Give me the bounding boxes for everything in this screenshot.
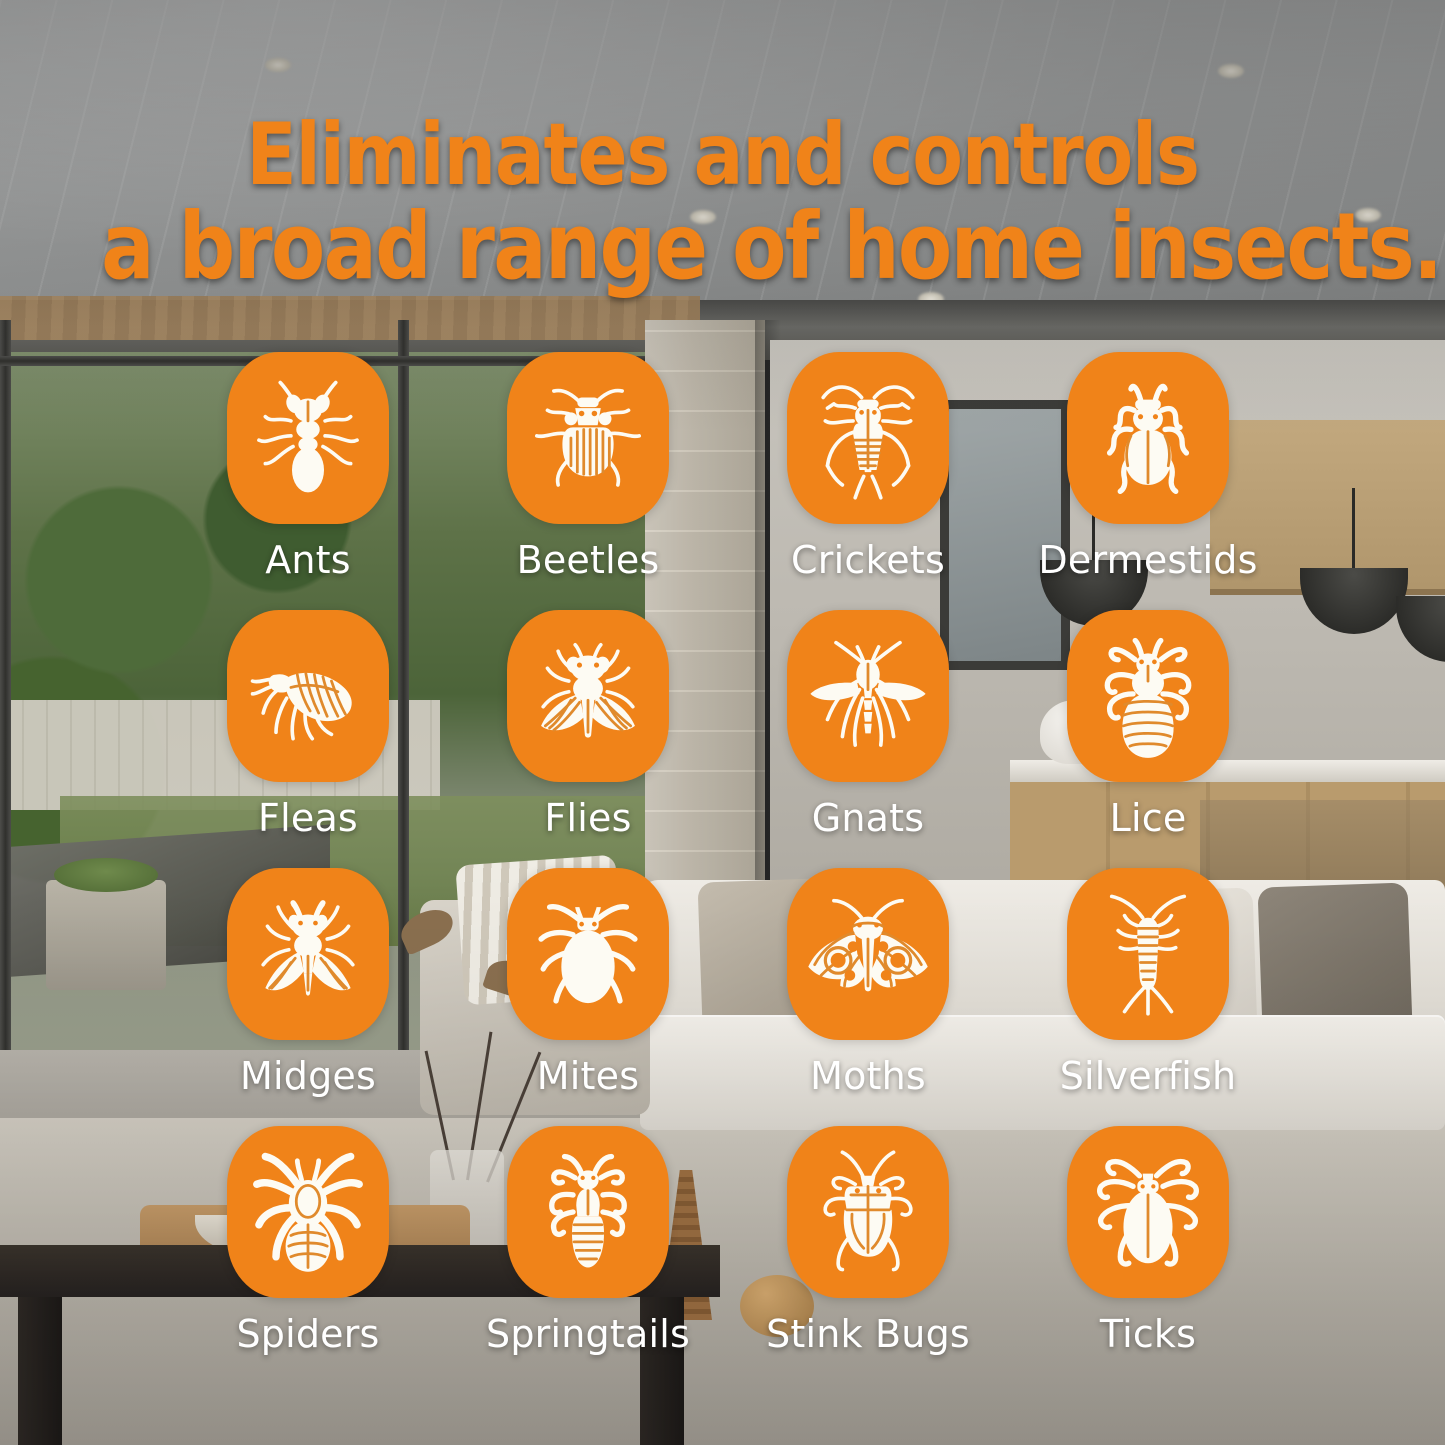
cricket-icon <box>804 374 932 502</box>
springtail-icon <box>524 1148 652 1276</box>
silverfish-tile <box>1067 868 1229 1040</box>
flea-tile <box>227 610 389 782</box>
grid-item-flies: Flies <box>448 610 728 868</box>
grid-item-label: Stink Bugs <box>766 1312 970 1356</box>
grid-item-spiders: Spiders <box>168 1126 448 1384</box>
grid-item-lice: Lice <box>1008 610 1288 868</box>
grid-item-label: Dermestids <box>1038 538 1257 582</box>
grid-item-label: Fleas <box>258 796 358 840</box>
springtail-tile <box>507 1126 669 1298</box>
grid-item-label: Moths <box>810 1054 926 1098</box>
wood-soffit-panel <box>0 296 700 340</box>
silverfish-icon <box>1084 890 1212 1018</box>
dermestid-beetle-icon <box>1084 374 1212 502</box>
grid-item-label: Flies <box>544 796 631 840</box>
grid-item-springtails: Springtails <box>448 1126 728 1384</box>
moth-icon <box>804 890 932 1018</box>
grid-item-crickets: Crickets <box>728 352 1008 610</box>
grid-item-stink-bugs: Stink Bugs <box>728 1126 1008 1384</box>
grid-item-ants: Ants <box>168 352 448 610</box>
stink-bug-icon <box>804 1148 932 1276</box>
grid-item-label: Ticks <box>1100 1312 1196 1356</box>
grid-item-gnats: Gnats <box>728 610 1008 868</box>
louse-icon <box>1084 632 1212 760</box>
ceiling-downlight-icon <box>265 58 291 72</box>
fly-tile <box>507 610 669 782</box>
gnat-mosquito-tile <box>787 610 949 782</box>
beetle-icon <box>524 374 652 502</box>
window-mullion <box>0 320 11 1130</box>
tick-icon <box>1084 1148 1212 1276</box>
grid-item-label: Beetles <box>517 538 660 582</box>
stink-bug-tile <box>787 1126 949 1298</box>
dermestid-beetle-tile <box>1067 352 1229 524</box>
grid-item-beetles: Beetles <box>448 352 728 610</box>
grid-item-midges: Midges <box>168 868 448 1126</box>
grid-item-label: Gnats <box>812 796 925 840</box>
tick-tile <box>1067 1126 1229 1298</box>
ant-icon <box>244 374 372 502</box>
gnat-mosquito-icon <box>804 632 932 760</box>
grid-item-label: Midges <box>240 1054 376 1098</box>
midge-icon <box>244 890 372 1018</box>
product-feature-graphic: Eliminates and controls a broad range of… <box>0 0 1445 1445</box>
grid-item-moths: Moths <box>728 868 1008 1126</box>
grid-item-fleas: Fleas <box>168 610 448 868</box>
flea-icon <box>244 632 372 760</box>
grid-item-label: Ants <box>265 538 351 582</box>
cricket-tile <box>787 352 949 524</box>
mite-icon <box>524 890 652 1018</box>
insect-coverage-grid: Ants <box>168 352 1288 1384</box>
patio-planter <box>46 880 166 990</box>
grid-item-label: Crickets <box>791 538 945 582</box>
midge-tile <box>227 868 389 1040</box>
spider-tile <box>227 1126 389 1298</box>
grid-item-label: Silverfish <box>1060 1054 1237 1098</box>
grid-item-dermestids: Dermestids <box>1008 352 1288 610</box>
ant-tile <box>227 352 389 524</box>
grid-item-ticks: Ticks <box>1008 1126 1288 1384</box>
grid-item-label: Lice <box>1110 796 1187 840</box>
moth-tile <box>787 868 949 1040</box>
mite-tile <box>507 868 669 1040</box>
grid-item-label: Mites <box>537 1054 639 1098</box>
fly-icon <box>524 632 652 760</box>
grid-item-silverfish: Silverfish <box>1008 868 1288 1126</box>
headline-line-1: Eliminates and controls <box>101 112 1344 200</box>
grid-item-mites: Mites <box>448 868 728 1126</box>
beetle-tile <box>507 352 669 524</box>
coffee-table-leg <box>18 1297 62 1445</box>
headline-line-2: a broad range of home insects. <box>101 200 1344 294</box>
louse-tile <box>1067 610 1229 782</box>
ceiling-downlight-icon <box>1218 64 1244 78</box>
grid-item-label: Springtails <box>486 1312 690 1356</box>
spider-icon <box>244 1148 372 1276</box>
grid-item-label: Spiders <box>236 1312 379 1356</box>
page-title: Eliminates and controls a broad range of… <box>0 112 1445 294</box>
